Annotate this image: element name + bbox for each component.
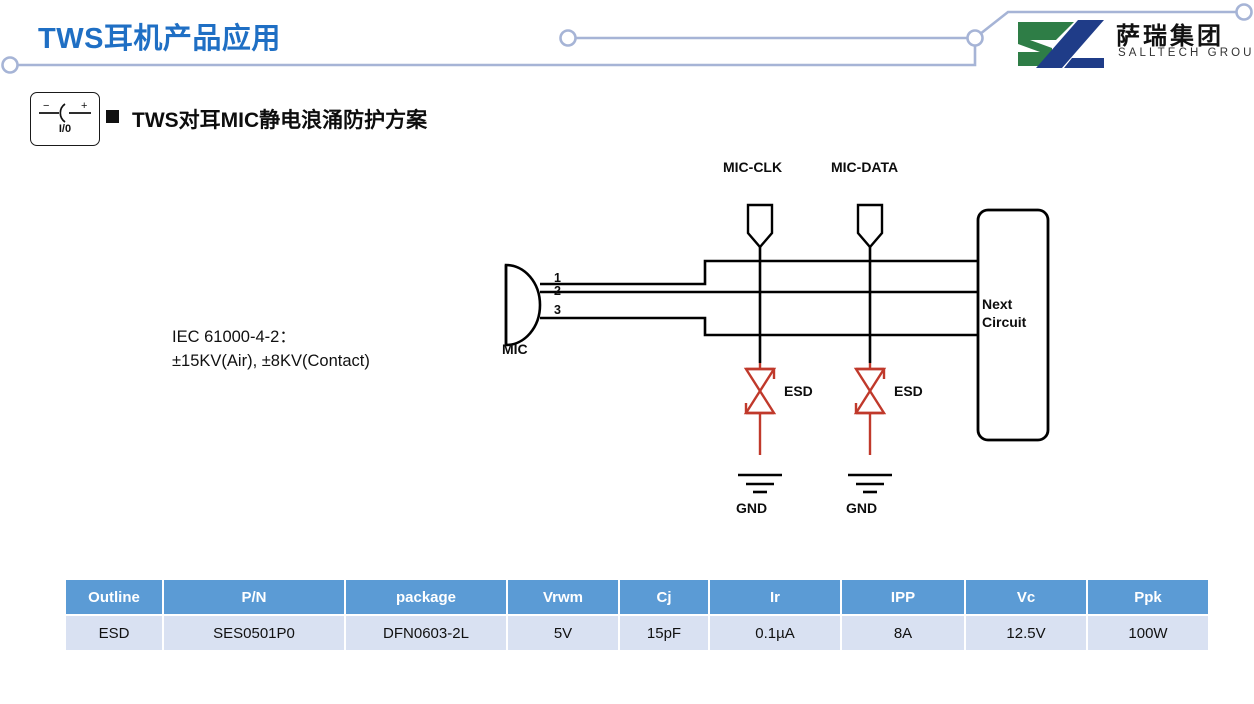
salltech-logo-mark: [1012, 18, 1108, 70]
svg-text:+: +: [81, 100, 87, 112]
table-cell-r0-c6: 8A: [842, 616, 964, 650]
esd-1-label: ESD: [784, 383, 813, 399]
table-col-header-0: Outline: [66, 580, 162, 614]
iec-spec-line1: IEC 61000-4-2：: [172, 325, 370, 349]
next-circuit-line2: Circuit: [982, 313, 1054, 331]
table-col-header-3: Vrwm: [508, 580, 618, 614]
table-cell-r0-c4: 15pF: [620, 616, 708, 650]
mic-symbol-icon: [506, 265, 540, 345]
logo-en-name: SALLTECH GROUP: [1118, 47, 1254, 59]
gnd-2-label: GND: [846, 500, 877, 516]
io-badge-icon: − + I/0: [30, 92, 100, 146]
next-circuit-line1: Next: [982, 295, 1054, 313]
table-cell-r0-c1: SES0501P0: [164, 616, 344, 650]
logo-cn-name: 萨瑞集团: [1116, 16, 1224, 51]
next-circuit-label: Next Circuit: [982, 295, 1054, 331]
esd-diode-2-icon: [856, 363, 884, 455]
spec-table: OutlineP/NpackageVrwmCjIrIPPVcPpk ESDSES…: [64, 578, 1210, 652]
table-col-header-1: P/N: [164, 580, 344, 614]
mic-pin-1-label: 1: [554, 271, 561, 285]
table-cell-r0-c3: 5V: [508, 616, 618, 650]
circuit-schematic-svg: [480, 155, 1100, 535]
table-cell-r0-c2: DFN0603-2L: [346, 616, 506, 650]
mic-clk-label: MIC-CLK: [723, 159, 782, 175]
table-header-row: OutlineP/NpackageVrwmCjIrIPPVcPpk: [66, 580, 1208, 614]
circuit-diagram: MIC-CLK MIC-DATA MIC 1 2 3 ESD ESD GND G…: [480, 155, 1100, 535]
table-col-header-6: IPP: [842, 580, 964, 614]
table-cell-r0-c7: 12.5V: [966, 616, 1086, 650]
table-cell-r0-c8: 100W: [1088, 616, 1208, 650]
table-col-header-2: package: [346, 580, 506, 614]
iec-spec-line2: ±15KV(Air), ±8KV(Contact): [172, 349, 370, 373]
esd-2-label: ESD: [894, 383, 923, 399]
io-badge-label: I/0: [31, 123, 99, 135]
iec-spec-note: IEC 61000-4-2： ±15KV(Air), ±8KV(Contact): [172, 325, 370, 373]
section-title: TWS对耳MIC静电浪涌防护方案: [132, 104, 427, 134]
mic-data-label: MIC-DATA: [831, 159, 898, 175]
gnd-1-label: GND: [736, 500, 767, 516]
table-col-header-4: Cj: [620, 580, 708, 614]
mic-clk-connector-icon: [748, 205, 772, 247]
table-col-header-5: Ir: [710, 580, 840, 614]
mic-data-connector-icon: [858, 205, 882, 247]
table-cell-r0-c0: ESD: [66, 616, 162, 650]
table-col-header-7: Vc: [966, 580, 1086, 614]
gnd-symbol-2-icon: [848, 475, 892, 492]
mic-label: MIC: [502, 341, 528, 357]
mic-pin-2-label: 2: [554, 284, 561, 298]
mic-pin-3-label: 3: [554, 303, 561, 317]
company-logo: 萨瑞集团 SALLTECH GROUP: [1012, 16, 1244, 74]
esd-diode-1-icon: [746, 363, 774, 455]
table-row: ESDSES0501P0DFN0603-2L5V15pF0.1µA8A12.5V…: [66, 616, 1208, 650]
table-cell-r0-c5: 0.1µA: [710, 616, 840, 650]
slide-root: TWS耳机产品应用 萨瑞集团 SALLTECH GROUP − +: [0, 0, 1254, 704]
svg-text:−: −: [43, 100, 49, 112]
gnd-symbol-1-icon: [738, 475, 782, 492]
table-col-header-8: Ppk: [1088, 580, 1208, 614]
section-bullet-icon: [106, 110, 119, 123]
io-symbol-icon: − +: [31, 93, 99, 145]
